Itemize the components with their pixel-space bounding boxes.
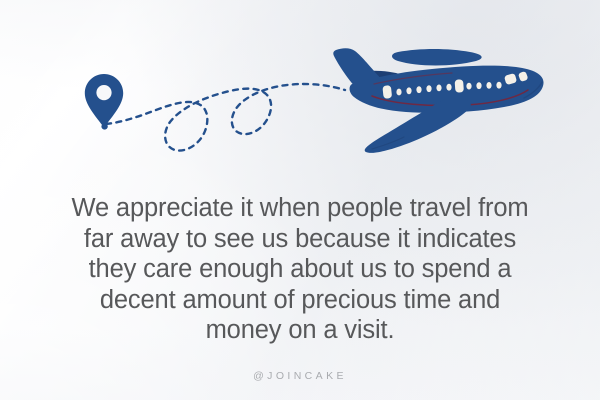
dashed-flight-path-tail-icon — [303, 84, 345, 90]
dashed-flight-path-icon — [106, 84, 303, 151]
airplane-door-mid-icon — [455, 79, 464, 93]
airplane-icon — [333, 48, 543, 153]
quote-text: We appreciate it when people travel from… — [36, 193, 564, 346]
attribution-handle: @JOINCAKE — [0, 370, 600, 382]
quote-card: We appreciate it when people travel from… — [0, 0, 600, 400]
